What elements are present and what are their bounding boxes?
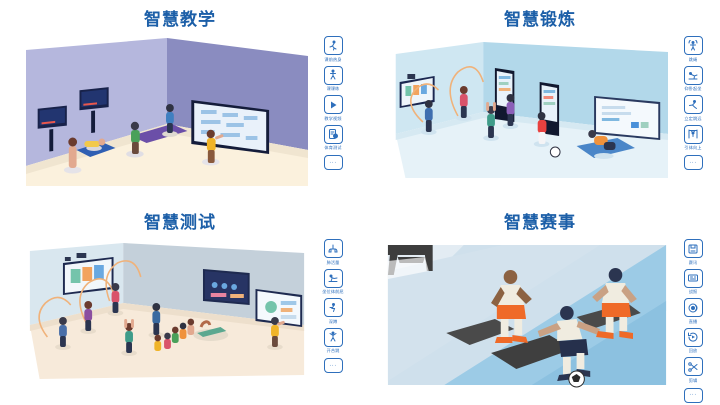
sidebar-label: 开合跳 xyxy=(327,348,340,354)
sidebar-label: 直播 xyxy=(689,319,698,325)
sidebar-testing: 肺活量 坐位体前屈 深蹲 xyxy=(314,239,352,373)
sidebar-label: 体育测试 xyxy=(324,145,341,151)
sidebar-training: 跳绳 仰卧起坐 立定跳远 xyxy=(674,36,712,170)
panel-smart-teaching: 智慧教学 xyxy=(0,0,360,203)
sidebar-label: 剪辑 xyxy=(689,378,698,384)
news-icon xyxy=(684,239,703,258)
panel-body: 课前热身 课课练 教学视频 xyxy=(26,38,352,186)
sidebar-more-button[interactable]: ··· xyxy=(324,358,343,373)
page-title: 智慧赛事 xyxy=(360,203,720,235)
sidebar-item-lung-capacity[interactable]: 肺活量 xyxy=(315,239,351,268)
sidebar-more-button[interactable]: ··· xyxy=(684,388,703,403)
sidebar-item-edit[interactable]: 剪辑 xyxy=(675,357,711,386)
sidebar-item-live[interactable]: 直播 xyxy=(675,298,711,327)
play-icon xyxy=(324,95,343,114)
sidebar-label: 跳绳 xyxy=(689,57,698,63)
sidebar-label: 引体向上 xyxy=(684,145,701,151)
replay-icon xyxy=(684,328,703,347)
sidebar-label: 坐位体前屈 xyxy=(322,289,343,295)
sidebar-label: 回放 xyxy=(689,348,698,354)
report-icon xyxy=(684,269,703,288)
sidebar-label: 课课练 xyxy=(327,86,340,92)
panel-smart-training: 智慧锻炼 xyxy=(360,0,720,203)
exercise-icon xyxy=(324,66,343,85)
sidebar-label: 仰卧起坐 xyxy=(684,86,701,92)
panel-grid: 智慧教学 xyxy=(0,0,720,405)
test-icon xyxy=(324,125,343,144)
sidebar-item-squat[interactable]: 深蹲 xyxy=(315,298,351,327)
edit-icon xyxy=(684,357,703,376)
sidebar-competition: 赛讯 战报 直播 xyxy=(674,239,712,403)
scene-illustration-testing xyxy=(26,241,308,389)
sidebar-more-button[interactable]: ··· xyxy=(684,155,703,170)
sidebar-item-exercise[interactable]: 课课练 xyxy=(315,66,351,95)
sidebar-item-long-jump[interactable]: 立定跳远 xyxy=(675,95,711,124)
page-title: 智慧教学 xyxy=(0,0,360,32)
panel-body: 赛讯 战报 直播 xyxy=(386,241,712,389)
scene-illustration-teaching xyxy=(26,38,308,186)
pullup-icon xyxy=(684,125,703,144)
sidebar-item-replay[interactable]: 回放 xyxy=(675,328,711,357)
long-jump-icon xyxy=(684,95,703,114)
jumping-jack-icon xyxy=(324,328,343,347)
sidebar-label: 课前热身 xyxy=(324,57,341,63)
jump-rope-icon xyxy=(684,36,703,55)
sidebar-label: 赛讯 xyxy=(689,260,698,266)
panel-smart-competition: 智慧赛事 xyxy=(360,203,720,405)
sidebar-label: 教学视频 xyxy=(324,116,341,122)
sidebar-item-situp[interactable]: 仰卧起坐 xyxy=(675,66,711,95)
page-title: 智慧锻炼 xyxy=(360,0,720,32)
sidebar-item-pullup[interactable]: 引体向上 xyxy=(675,125,711,154)
sidebar-item-report[interactable]: 战报 xyxy=(675,269,711,298)
sidebar-item-video[interactable]: 教学视频 xyxy=(315,95,351,124)
sidebar-more-button[interactable]: ··· xyxy=(324,155,343,170)
sidebar-item-sit-and-reach[interactable]: 坐位体前屈 xyxy=(315,269,351,298)
squat-icon xyxy=(324,298,343,317)
scene-illustration-training xyxy=(386,38,668,186)
warmup-icon xyxy=(324,36,343,55)
sidebar-teaching: 课前热身 课课练 教学视频 xyxy=(314,36,352,170)
situp-icon xyxy=(684,66,703,85)
sidebar-item-news[interactable]: 赛讯 xyxy=(675,239,711,268)
sidebar-item-jump-rope[interactable]: 跳绳 xyxy=(675,36,711,65)
live-icon xyxy=(684,298,703,317)
page-title: 智慧测试 xyxy=(0,203,360,235)
lung-capacity-icon xyxy=(324,239,343,258)
sidebar-label: 深蹲 xyxy=(329,319,338,325)
sidebar-label: 立定跳远 xyxy=(684,116,701,122)
sidebar-item-jumping-jack[interactable]: 开合跳 xyxy=(315,328,351,357)
sidebar-item-warmup[interactable]: 课前热身 xyxy=(315,36,351,65)
scene-illustration-competition xyxy=(386,241,668,389)
sidebar-label: 战报 xyxy=(689,289,698,295)
panel-body: 跳绳 仰卧起坐 立定跳远 xyxy=(386,38,712,186)
panel-smart-testing: 智慧测试 xyxy=(0,203,360,405)
sit-and-reach-icon xyxy=(324,269,343,288)
sidebar-item-test[interactable]: 体育测试 xyxy=(315,125,351,154)
sidebar-label: 肺活量 xyxy=(327,260,340,266)
panel-body: 肺活量 坐位体前屈 深蹲 xyxy=(26,241,352,389)
